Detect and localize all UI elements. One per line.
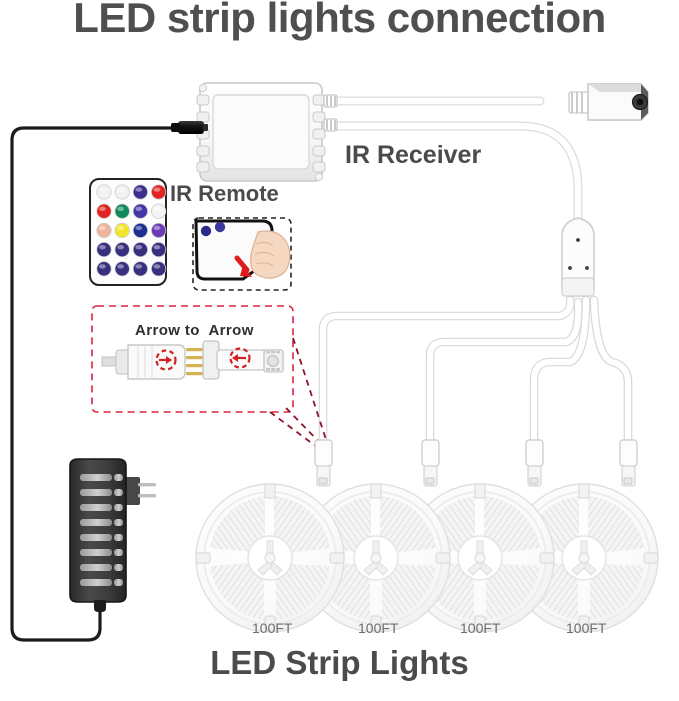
ir-receiver-label: IR Receiver <box>345 141 481 170</box>
remote-button-highlight <box>99 207 106 211</box>
remote-button-highlight <box>99 264 106 268</box>
reel-length-label: 100FT <box>252 620 292 636</box>
remote-button-13[interactable] <box>97 242 111 256</box>
remote-button-highlight <box>154 264 161 268</box>
remote-button-18[interactable] <box>115 262 129 276</box>
controller-box <box>197 83 337 181</box>
remote-button-highlight <box>154 245 161 249</box>
bottom-caption: LED Strip Lights <box>0 644 679 682</box>
led-strip-connection-diagram: LED strip lights connection IR Receiver … <box>0 0 679 701</box>
remote-button-highlight <box>154 187 161 191</box>
ir-remote-label: IR Remote <box>170 181 279 207</box>
strip-connectors <box>315 440 637 486</box>
remote-button-5[interactable] <box>97 204 111 218</box>
remote-button-highlight <box>135 264 142 268</box>
strip-output-cables <box>323 300 628 440</box>
power-adapter <box>70 459 156 612</box>
remote-button-highlight <box>117 187 124 191</box>
remote-button-8[interactable] <box>151 204 165 218</box>
remote-button-grid[interactable] <box>97 185 166 276</box>
remote-button-highlight <box>99 226 106 230</box>
four-way-splitter <box>562 218 594 296</box>
connector-pins <box>186 348 204 375</box>
remote-button-17[interactable] <box>97 262 111 276</box>
callout-leader-lines <box>270 338 331 456</box>
reel-4 <box>510 484 658 632</box>
remote-button-highlight <box>135 187 142 191</box>
remote-button-12[interactable] <box>151 223 165 237</box>
remote-button-6[interactable] <box>115 204 129 218</box>
dc-power-cable <box>12 128 183 640</box>
remote-button-1[interactable] <box>97 185 111 199</box>
dc-barrel-plug <box>171 121 208 134</box>
remote-button-highlight <box>154 207 161 211</box>
reel-3 <box>406 484 554 632</box>
ir-remote <box>90 179 166 285</box>
remote-button-19[interactable] <box>133 262 147 276</box>
reel-1 <box>196 484 344 632</box>
remote-button-20[interactable] <box>151 262 165 276</box>
arrow-to-arrow-label: Arrow to Arrow <box>135 322 254 339</box>
remote-button-highlight <box>117 226 124 230</box>
remote-button-11[interactable] <box>133 223 147 237</box>
remote-button-highlight <box>117 245 124 249</box>
reel-length-label: 100FT <box>460 620 500 636</box>
remote-button-highlight <box>154 226 161 230</box>
page-title: LED strip lights connection <box>0 0 679 42</box>
reel-length-label: 100FT <box>358 620 398 636</box>
remote-button-14[interactable] <box>115 242 129 256</box>
ir-receiver-head <box>569 84 648 120</box>
remote-button-15[interactable] <box>133 242 147 256</box>
remote-button-highlight <box>99 187 106 191</box>
remote-button-4[interactable] <box>151 185 165 199</box>
reel-length-label: 100FT <box>566 620 606 636</box>
remote-button-highlight <box>117 207 124 211</box>
remote-button-highlight <box>135 226 142 230</box>
remote-button-highlight <box>99 245 106 249</box>
remote-button-2[interactable] <box>115 185 129 199</box>
diagram-graphics <box>0 0 679 701</box>
remote-button-16[interactable] <box>151 242 165 256</box>
remote-button-10[interactable] <box>115 223 129 237</box>
remote-button-highlight <box>135 207 142 211</box>
strip-connector-left <box>102 345 185 379</box>
remote-button-7[interactable] <box>133 204 147 218</box>
remote-button-3[interactable] <box>133 185 147 199</box>
led-strip-segment <box>203 341 283 379</box>
remote-button-highlight <box>117 264 124 268</box>
led-strip-reels <box>196 484 658 632</box>
remote-button-9[interactable] <box>97 223 111 237</box>
reel-2 <box>302 484 450 632</box>
phone-pull-tab-inset <box>193 218 291 290</box>
remote-button-highlight <box>135 245 142 249</box>
